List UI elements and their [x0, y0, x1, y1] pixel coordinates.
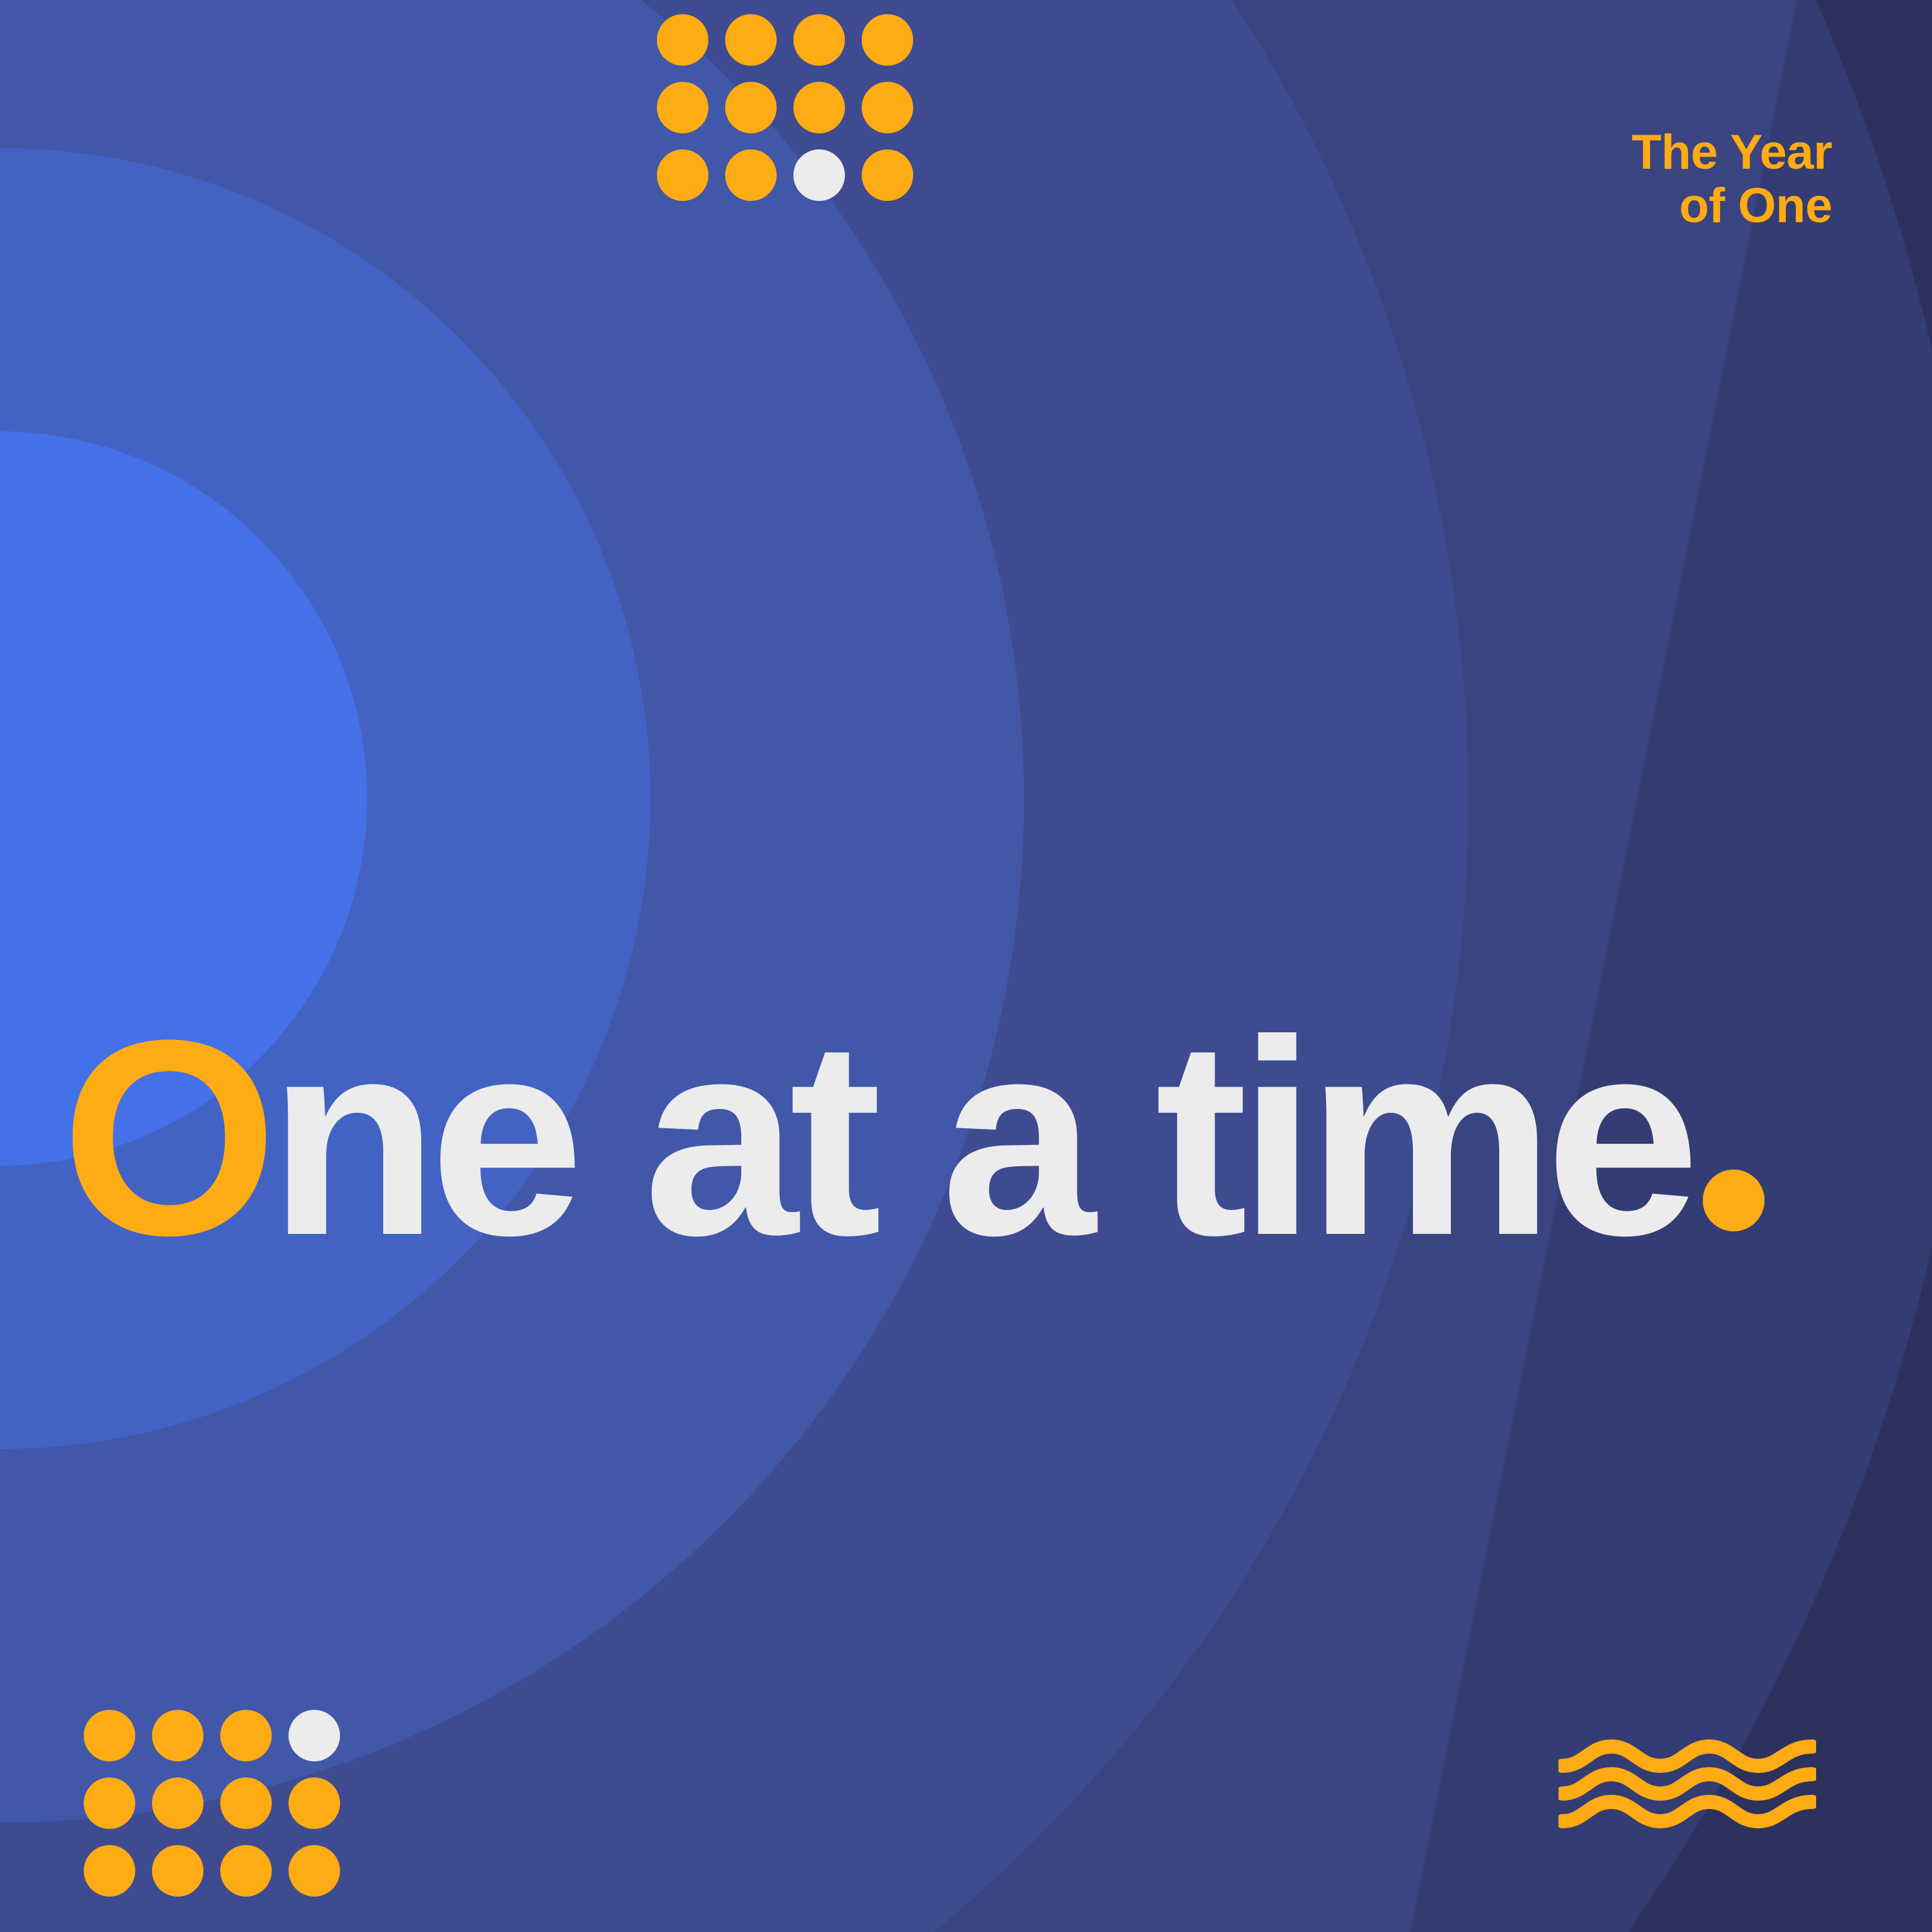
poster-canvas: The Year of One One at a time — [0, 0, 1932, 1932]
dot — [862, 149, 913, 201]
dot-highlight — [793, 149, 845, 201]
wave-lines-icon — [1558, 1739, 1816, 1842]
dot — [862, 82, 913, 133]
dot — [220, 1710, 272, 1761]
dot — [725, 82, 777, 133]
page-title: One at a time — [61, 999, 1765, 1277]
dot — [289, 1777, 340, 1829]
dot — [657, 82, 708, 133]
dot — [84, 1845, 135, 1897]
dot — [152, 1777, 204, 1829]
dot — [793, 82, 845, 133]
logo-lockup: The Year of One — [1632, 126, 1832, 233]
dot-grid-top — [657, 14, 913, 201]
dot — [220, 1777, 272, 1829]
dot — [657, 14, 708, 66]
dot — [725, 14, 777, 66]
headline-accent-letter: O — [61, 982, 269, 1293]
dot — [84, 1777, 135, 1829]
dot-grid-bottom — [84, 1710, 340, 1897]
headline-rest: ne at a time — [269, 982, 1691, 1293]
dot — [152, 1845, 204, 1897]
headline-period-dot — [1703, 1170, 1765, 1231]
dot — [657, 149, 708, 201]
dot — [725, 149, 777, 201]
logo-line-1: The Year — [1632, 126, 1832, 180]
dot — [152, 1710, 204, 1761]
dot — [862, 14, 913, 66]
dot — [220, 1845, 272, 1897]
dot-highlight — [289, 1710, 340, 1761]
dot — [289, 1845, 340, 1897]
logo-line-2: of One — [1632, 180, 1832, 233]
dot — [84, 1710, 135, 1761]
dot — [793, 14, 845, 66]
